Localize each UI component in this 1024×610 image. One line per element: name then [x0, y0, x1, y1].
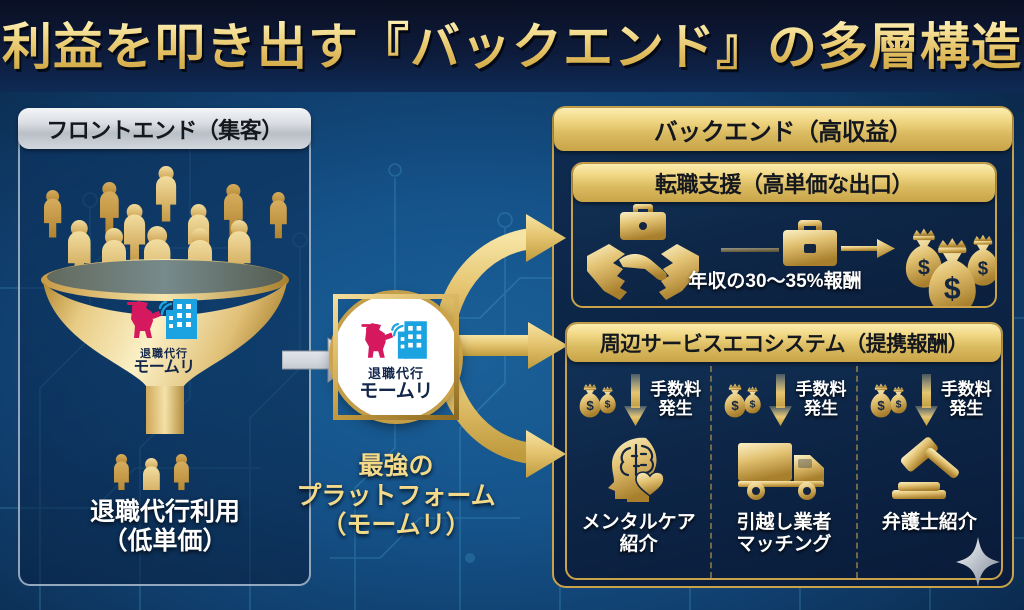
platform-caption-line1: 最強の — [296, 452, 496, 482]
down-arrow-icon — [622, 372, 648, 428]
service-label: 引越し業者 マッチング — [736, 512, 831, 555]
funnel-brand-main: モームリ — [118, 360, 210, 377]
money-bags-icon: $ $ — [576, 380, 620, 420]
page-title: 利益を叩き出す『バックエンド』の多層構造 — [2, 20, 1022, 72]
svg-text:$: $ — [877, 398, 885, 413]
fee-text: 手数料 発生 — [795, 381, 846, 418]
svg-text:$: $ — [978, 257, 989, 278]
ecosystem-header: 周辺サービスエコシステム（提携報酬） — [567, 324, 1001, 362]
fee-text: 手数料 発生 — [650, 381, 701, 418]
funnel-brand-logo: 退職代行 モームリ — [118, 296, 210, 374]
platform-brand-main: モームリ — [359, 382, 432, 402]
backend-panel-header: バックエンド（高収益） — [554, 108, 1012, 151]
svg-text:$: $ — [732, 398, 740, 413]
service-label-line2: 紹介 — [582, 534, 696, 556]
frontend-header-label: フロントエンド（集客） — [46, 113, 283, 145]
platform-logo-circle[interactable]: 退職代行 モームリ — [333, 294, 459, 420]
service-label-line1: メンタルケア — [582, 512, 696, 534]
briefcase-icon — [783, 220, 837, 266]
svg-text:$: $ — [750, 399, 756, 411]
service-label-line1: 弁護士紹介 — [882, 512, 977, 534]
service-icon-wrap — [598, 430, 680, 510]
platform-caption: 最強の プラットフォーム （モームリ） — [296, 452, 496, 541]
service-icon-wrap — [736, 430, 832, 510]
frontend-caption: 退職代行利用 （低単価） — [24, 498, 306, 556]
ecosystem-columns: $ $ 手数料 発生 — [567, 366, 1001, 578]
fee-line2: 発生 — [795, 400, 846, 419]
moumuri-bird-building-icon — [118, 296, 210, 342]
fee-line1: 手数料 — [941, 381, 992, 400]
platform-brand-sub: 退職代行 — [368, 367, 424, 381]
platform-caption-line3: （モームリ） — [296, 511, 496, 541]
svg-text:$: $ — [605, 399, 611, 411]
career-support-header-label: 転職支援（高単価な出口） — [655, 167, 913, 199]
right-arrow-icon — [841, 239, 895, 258]
career-fee-label: 年収の30〜35%報酬 — [660, 266, 890, 293]
down-arrow-icon — [767, 372, 793, 428]
fee-line1: 手数料 — [795, 381, 846, 400]
ecosystem-column-mental-care[interactable]: $ $ 手数料 発生 — [567, 366, 710, 578]
brain-heart-head-icon — [598, 432, 680, 508]
frontend-caption-line1: 退職代行利用 — [24, 498, 306, 527]
gavel-icon — [886, 432, 972, 508]
svg-text:$: $ — [586, 398, 594, 413]
moving-truck-icon — [736, 437, 832, 503]
small-people-group-icon — [110, 448, 214, 490]
career-support-header: 転職支援（高単価な出口） — [573, 164, 995, 202]
sparkle-diamond-icon — [955, 537, 1001, 587]
title-band: 利益を叩き出す『バックエンド』の多層構造 — [0, 0, 1024, 92]
svg-text:$: $ — [918, 255, 930, 280]
ecosystem-column-moving[interactable]: $ $ 手数料 発生 — [710, 366, 855, 578]
fee-line2: 発生 — [650, 400, 701, 419]
backend-header-label: バックエンド（高収益） — [654, 112, 913, 147]
ecosystem-header-label: 周辺サービスエコシステム（提携報酬） — [600, 328, 968, 358]
fee-line1: 手数料 — [650, 381, 701, 400]
platform-caption-line2: プラットフォーム — [296, 482, 496, 512]
money-bags-icon: $ $ $ — [906, 229, 995, 306]
service-label: メンタルケア 紹介 — [582, 512, 696, 555]
money-bags-icon: $ $ — [721, 380, 765, 420]
service-label-line2: マッチング — [736, 534, 831, 556]
infographic-stage: 利益を叩き出す『バックエンド』の多層構造 フロントエンド（集客） — [0, 0, 1024, 610]
fee-row: $ $ 手数料 発生 — [567, 366, 710, 430]
down-arrow-icon — [913, 372, 939, 428]
svg-text:$: $ — [944, 272, 961, 305]
moumuri-bird-building-icon — [353, 314, 439, 366]
service-icon-wrap — [886, 430, 972, 510]
fee-text: 手数料 発生 — [941, 381, 992, 418]
fee-row: $ $ 手数料 発生 — [712, 366, 855, 430]
service-label: 弁護士紹介 — [882, 512, 977, 534]
frontend-caption-line2: （低単価） — [24, 527, 306, 556]
fee-line2: 発生 — [941, 400, 992, 419]
service-label-line1: 引越し業者 — [736, 512, 831, 534]
fee-row: $ $ 手数料 発生 — [858, 366, 1001, 430]
money-bags-icon: $ $ — [867, 380, 911, 420]
frontend-panel-header: フロントエンド（集客） — [18, 108, 311, 149]
svg-text:$: $ — [895, 399, 901, 411]
